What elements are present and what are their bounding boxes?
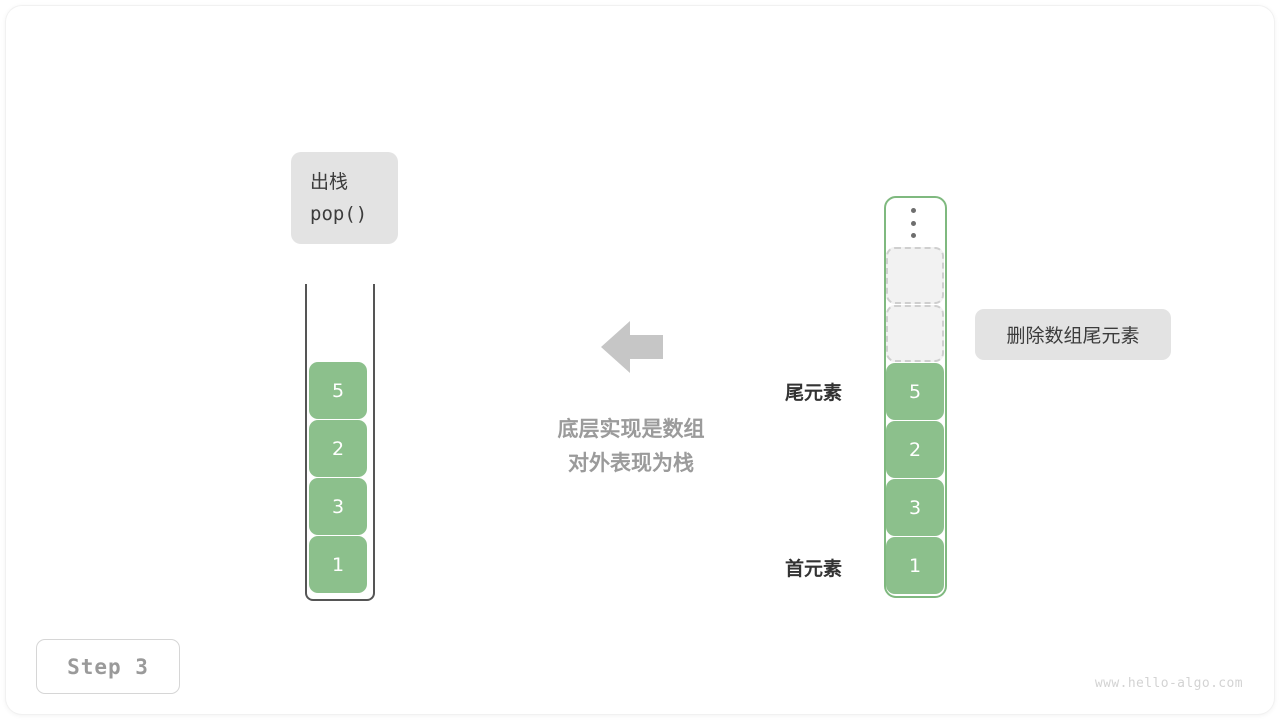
figure-canvas: 出栈 pop() 5 2 3 1 底层实现是数组 对外表现为栈 5 2 3 1 … — [0, 0, 1280, 720]
stack-element-list: 5 2 3 1 — [309, 362, 371, 593]
step-badge-label: Step 3 — [67, 655, 149, 679]
stack-element: 5 — [309, 362, 367, 419]
pop-operation-callout: 出栈 pop() — [291, 152, 398, 244]
left-arrow-icon — [601, 317, 663, 377]
array-element: 5 — [886, 363, 944, 420]
array-element: 3 — [886, 479, 944, 536]
array-head-label: 首元素 — [785, 554, 842, 581]
stack-element: 1 — [309, 536, 367, 593]
array-empty-slot — [886, 305, 944, 362]
vertical-ellipsis-icon — [910, 208, 916, 238]
step-badge: Step 3 — [36, 639, 180, 694]
implementation-caption-line-2: 对外表现为栈 — [490, 446, 772, 480]
array-empty-slot — [886, 247, 944, 304]
array-tail-label: 尾元素 — [785, 378, 842, 405]
array-slot-list: 5 2 3 1 — [886, 247, 944, 594]
watermark: www.hello-algo.com — [1095, 676, 1243, 691]
implementation-caption: 底层实现是数组 对外表现为栈 — [490, 412, 772, 480]
pop-callout-line-1: 出栈 — [310, 166, 398, 198]
stack-element: 2 — [309, 420, 367, 477]
array-element: 2 — [886, 421, 944, 478]
array-element: 1 — [886, 537, 944, 594]
implementation-caption-line-1: 底层实现是数组 — [490, 412, 772, 446]
delete-tail-callout: 删除数组尾元素 — [975, 309, 1171, 360]
pop-callout-line-2: pop() — [310, 198, 398, 230]
stack-element: 3 — [309, 478, 367, 535]
